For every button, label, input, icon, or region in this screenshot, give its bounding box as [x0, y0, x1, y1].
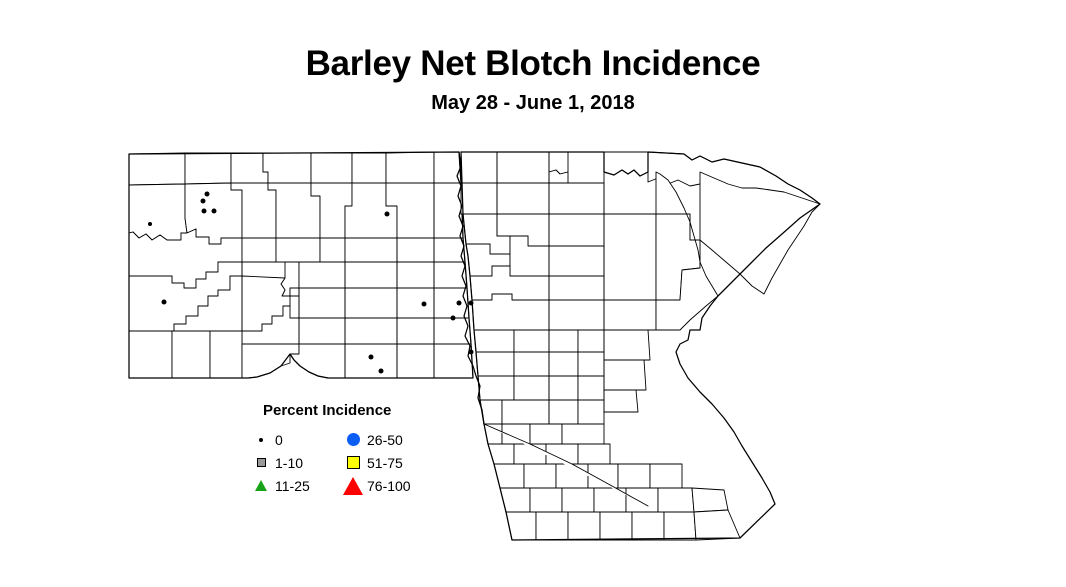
legend-label-1-10: 1-10 [275, 455, 303, 471]
map-canvas [0, 0, 1066, 587]
gray-square-icon [250, 453, 272, 473]
yellow-square-icon [342, 453, 364, 473]
map-data-point [201, 199, 206, 204]
legend-label-76-100: 76-100 [367, 478, 411, 494]
map-data-point [385, 212, 390, 217]
legend-label-0: 0 [275, 432, 283, 448]
map-figure: Barley Net Blotch Incidence May 28 - Jun… [0, 0, 1066, 587]
map-data-point [457, 301, 462, 306]
legend-column-left: 0 1-10 11-25 [250, 428, 342, 497]
map-data-point [162, 300, 167, 305]
north-dakota-counties [129, 152, 473, 378]
map-data-point [202, 209, 207, 214]
map-data-point [451, 316, 456, 321]
legend-label-11-25: 11-25 [275, 478, 310, 494]
legend-item-11-25[interactable]: 11-25 [250, 474, 342, 497]
legend-item-76-100[interactable]: 76-100 [342, 474, 434, 497]
map-data-point [369, 355, 374, 360]
black-dot-icon [250, 430, 272, 450]
blue-circle-icon [342, 430, 364, 450]
legend-item-51-75[interactable]: 51-75 [342, 451, 434, 474]
legend-item-0[interactable]: 0 [250, 428, 342, 451]
states-county-map [0, 0, 1066, 587]
legend-item-1-10[interactable]: 1-10 [250, 451, 342, 474]
map-data-point [212, 209, 217, 214]
legend-column-right: 26-50 51-75 76-100 [342, 428, 434, 497]
legend: Percent Incidence 0 1-10 11-25 [250, 402, 435, 500]
map-data-point [469, 350, 474, 355]
legend-title: Percent Incidence [263, 402, 391, 419]
minnesota-counties [461, 152, 820, 540]
map-data-point [379, 369, 384, 374]
green-triangle-icon [250, 476, 272, 496]
legend-item-26-50[interactable]: 26-50 [342, 428, 434, 451]
legend-label-26-50: 26-50 [367, 432, 403, 448]
red-triangle-icon [342, 476, 364, 496]
map-data-point [422, 302, 427, 307]
map-data-point [469, 301, 474, 306]
map-data-point [205, 192, 210, 197]
legend-label-51-75: 51-75 [367, 455, 403, 471]
map-data-point [148, 222, 152, 226]
